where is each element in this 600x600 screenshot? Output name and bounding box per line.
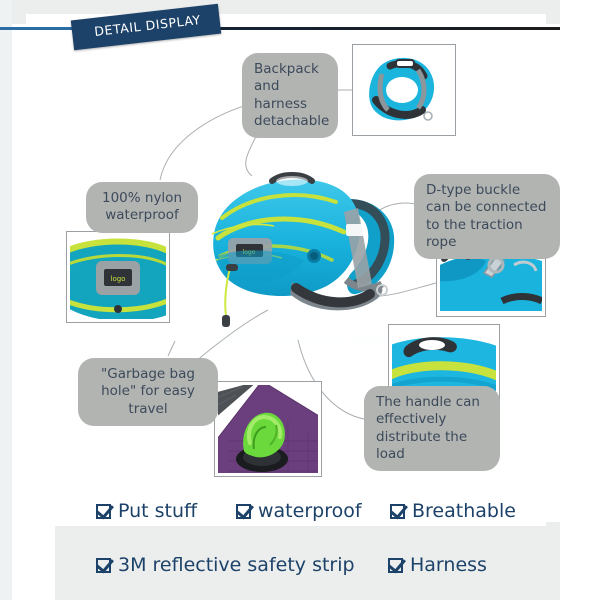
photo-nylon-fabric-closeup: logo bbox=[66, 231, 170, 323]
checkbox-icon bbox=[96, 504, 111, 519]
feature-breathable: Breathable bbox=[390, 500, 516, 522]
feature-label: Harness bbox=[410, 554, 487, 576]
callout-text: Backpack and harness detachable bbox=[254, 61, 329, 129]
checkbox-icon bbox=[96, 558, 111, 573]
feature-harness: Harness bbox=[388, 554, 487, 576]
callout-d-type-buckle: D-type buckle can be connected to the tr… bbox=[414, 174, 560, 259]
detail-display-page: DETAIL DISPLAY bbox=[0, 0, 600, 600]
checkbox-icon bbox=[236, 504, 251, 519]
background-right-strip bbox=[560, 0, 600, 600]
main-product-image: logo bbox=[196, 160, 408, 345]
feature-label: waterproof bbox=[258, 500, 362, 522]
checkbox-icon bbox=[388, 558, 403, 573]
feature-put-stuff: Put stuff bbox=[96, 500, 197, 522]
callout-backpack-harness-detachable: Backpack and harness detachable bbox=[242, 53, 338, 138]
background-left-strip bbox=[0, 0, 12, 600]
feature-3m-reflective-safety-strip: 3M reflective safety strip bbox=[96, 554, 355, 576]
callout-handle-distribute-load: The handle can effectively distribute th… bbox=[364, 386, 500, 471]
feature-waterproof: waterproof bbox=[236, 500, 362, 522]
callout-text: The handle can effectively distribute th… bbox=[376, 394, 480, 462]
feature-label: Breathable bbox=[412, 500, 516, 522]
callout-text: 100% nylon waterproof bbox=[102, 190, 182, 223]
checkbox-icon bbox=[390, 504, 405, 519]
photo-detached-harness bbox=[352, 44, 456, 136]
feature-label: Put stuff bbox=[118, 500, 197, 522]
callout-text: D-type buckle can be connected to the tr… bbox=[426, 182, 546, 250]
photo-garbage-bag-hole-closeup bbox=[214, 381, 322, 477]
callout-nylon-waterproof: 100% nylon waterproof bbox=[86, 182, 198, 233]
svg-text:logo: logo bbox=[111, 275, 126, 283]
callout-text: "Garbage bag hole" for easy travel bbox=[101, 366, 195, 417]
callout-garbage-bag-hole: "Garbage bag hole" for easy travel bbox=[78, 358, 218, 426]
feature-label: 3M reflective safety strip bbox=[118, 554, 355, 576]
